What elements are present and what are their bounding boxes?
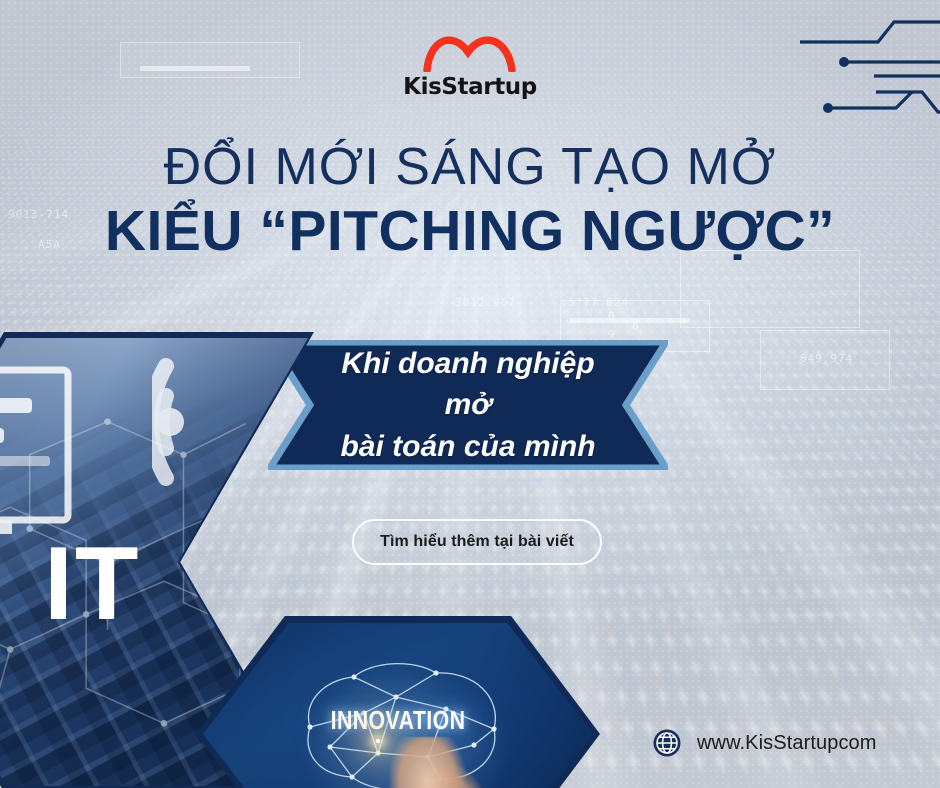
circuit-node-icon: [823, 103, 833, 113]
brand-logo: KisStartup: [0, 28, 940, 100]
ribbon-text: Khi doanh nghiệp mở bài toán của mình: [268, 343, 668, 467]
headline-block: ĐỔI MỚI SÁNG TẠO MỞ KIỂU “PITCHING NGƯỢC…: [0, 140, 940, 262]
subtitle-ribbon: Khi doanh nghiệp mở bài toán của mình: [268, 340, 668, 470]
read-more-button[interactable]: Tìm hiểu thêm tại bài viết: [352, 519, 602, 565]
window-icon: [0, 364, 74, 544]
arc-logo-icon: [422, 28, 518, 72]
website-url: www.KisStartupcom: [697, 732, 877, 755]
headline-line-2: KIỂU “PITCHING NGƯỢC”: [0, 201, 940, 261]
panel-innovation-photo: INNOVATION: [203, 623, 593, 788]
website-block[interactable]: www.KisStartupcom: [652, 728, 877, 758]
panel-innovation-label: INNOVATION: [331, 705, 466, 736]
touch-spark-icon: [376, 739, 380, 743]
ribbon-line-1: Khi doanh nghiệp mở: [314, 343, 622, 426]
panel-it-label: IT: [44, 532, 140, 636]
brand-wordmark: KisStartup: [0, 74, 940, 100]
globe-icon: [652, 728, 682, 758]
pointing-finger-icon: [372, 737, 492, 788]
headline-line-1: ĐỔI MỚI SÁNG TẠO MỞ: [0, 140, 940, 195]
ribbon-line-2: bài toán của mình: [314, 426, 622, 467]
poster-canvas: 5777.624 849.974 3012.907 9013-714 A5A 0…: [0, 0, 940, 788]
